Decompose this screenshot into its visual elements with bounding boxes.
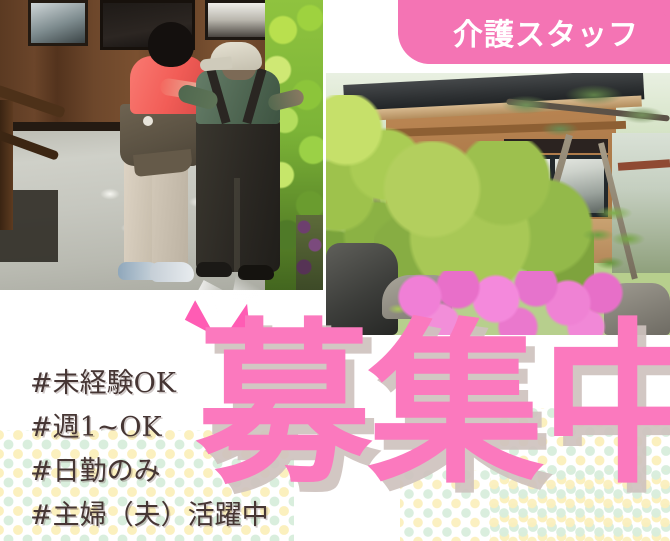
caregiver-apron-button (143, 116, 153, 126)
photo-rail-post (0, 100, 13, 230)
headline-recruiting: 募集中 (196, 318, 670, 494)
photo-purple-flowers (296, 215, 323, 290)
photo-window-left (28, 0, 88, 46)
caregiver-shoe-right (150, 262, 194, 282)
photo-caregiver-ramp (0, 0, 323, 290)
job-category-badge: 介護スタッフ (398, 0, 670, 64)
elderly-shoe-left (196, 262, 232, 277)
elderly-trouser-seam (234, 178, 240, 272)
caregiver-head (148, 22, 194, 67)
photo-facility-garden (326, 73, 670, 335)
recruitment-poster: 介護スタッフ #未経験OK #週1~OK #日勤のみ #主婦（夫）活躍中 募集中 (0, 0, 670, 541)
job-category-badge-label: 介護スタッフ (422, 0, 670, 64)
